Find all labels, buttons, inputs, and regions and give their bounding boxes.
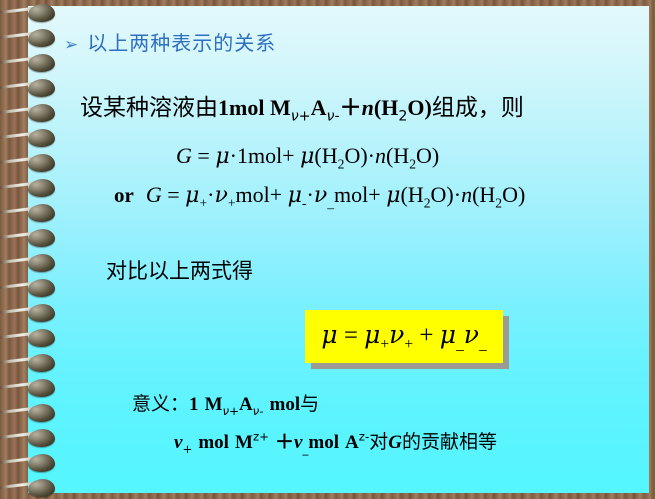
- m2-anion-charge: z-: [359, 430, 369, 444]
- hl-nu-minus: ν: [464, 320, 479, 349]
- bullet-arrow-icon: ➢: [64, 35, 79, 55]
- eq2-mu-minus: μ: [288, 183, 302, 208]
- eq2-nu-minus: ν: [314, 183, 327, 208]
- eq1-mu-water: μ: [300, 144, 314, 169]
- eq2-n: n: [461, 182, 472, 207]
- eq1-lhs: G: [176, 143, 192, 168]
- hl-nu-plus-sub: +: [404, 336, 413, 353]
- hl-mu-minus-sub: _: [456, 336, 464, 353]
- eq2-or-label: or: [114, 183, 134, 207]
- meaning-one: 1: [189, 394, 199, 415]
- sentence-prefix: 设某种溶液由: [80, 95, 218, 121]
- eq1-water2-sub: 2: [409, 156, 416, 171]
- eq1-equals: =: [197, 143, 209, 168]
- sentence-salt-a: A: [311, 95, 327, 120]
- eq1-water2-open: (H: [386, 143, 409, 168]
- m2-anion: A: [345, 432, 359, 453]
- hl-nu-plus: ν: [389, 320, 404, 349]
- eq1-dot: ·: [230, 143, 237, 168]
- eq2-mu-water: μ: [386, 183, 400, 208]
- slide-content: ➢以上两种表示的关系 设某种溶液由1mol Mν+Aν-＋n(H2O)组成，则 …: [28, 6, 649, 493]
- sentence-n: n: [362, 95, 374, 120]
- highlight-equation: μ = μ+ν+ + μ_ν_: [321, 320, 486, 354]
- page-title: ➢以上两种表示的关系: [64, 27, 276, 56]
- meaning-m-sub: ν+: [223, 404, 239, 418]
- eq2-water-sub: 2: [424, 195, 431, 210]
- sentence-salt-m-sub: ν+: [291, 109, 311, 125]
- m2-mol1: mol: [198, 432, 229, 453]
- m2-nu-plus-sub: +: [182, 442, 192, 456]
- sentence-plus: ＋: [340, 95, 362, 120]
- eq1-term1: 1mol+: [237, 143, 295, 168]
- eq1-dot2: ·: [368, 143, 375, 168]
- eq2-equals: =: [167, 182, 179, 207]
- highlight-box: μ = μ+ν+ + μ_ν_: [305, 310, 503, 363]
- meaning-line-two: ν+ mol Mz+ ＋ν_mol Az-对G的贡献相等: [174, 427, 497, 456]
- eq2-mu-plus: μ: [185, 183, 199, 208]
- m2-tail: 的贡献相等: [402, 431, 497, 453]
- eq2-mol1: mol+: [236, 182, 283, 207]
- equation-one: G = μ·1mol+ μ(H2O)·n(H2O): [176, 143, 439, 172]
- eq1-water-open: (H: [314, 143, 337, 168]
- page-title-text: 以上两种表示的关系: [87, 31, 276, 55]
- eq2-nu-plus: ν: [214, 183, 227, 208]
- sentence-water-open: (H: [374, 95, 398, 120]
- sentence-amount: 1mol: [218, 95, 264, 120]
- sentence-suffix: 组成，则: [432, 95, 524, 121]
- eq2-dot3: ·: [454, 182, 461, 207]
- meaning-m: M: [205, 394, 223, 415]
- meaning-line-one: 意义：1 Mν+Aν- mol与: [132, 389, 319, 418]
- hl-mu-minus: μ: [440, 320, 456, 349]
- m2-cation: M: [235, 432, 253, 453]
- meaning-mol: mol: [270, 394, 301, 415]
- eq1-n: n: [375, 143, 386, 168]
- eq2-water2-close: O): [502, 182, 525, 207]
- eq2-dot2: ·: [307, 182, 314, 207]
- eq2-nu-plus-sub: +: [228, 195, 236, 210]
- hl-equals: =: [344, 322, 358, 349]
- equation-two: orG = μ+·ν+mol+ μ-·ν_mol+ μ(H2O)·n(H2O): [114, 182, 525, 211]
- eq2-water2-open: (H: [472, 182, 495, 207]
- meaning-with: 与: [300, 393, 319, 415]
- hl-plus: +: [419, 322, 433, 349]
- eq2-mu-plus-sub: +: [199, 195, 207, 210]
- sentence-salt-m: M: [270, 95, 291, 120]
- meaning-a: A: [239, 394, 253, 415]
- m2-mol2: mol: [308, 432, 339, 453]
- eq1-water-close: O): [344, 143, 367, 168]
- m2-cation-charge: z+: [253, 430, 269, 444]
- eq1-mu: μ: [215, 144, 229, 169]
- m2-g: G: [388, 432, 402, 453]
- eq2-water-open: (H: [401, 182, 424, 207]
- slide-canvas: ➢以上两种表示的关系 设某种溶液由1mol Mν+Aν-＋n(H2O)组成，则 …: [0, 0, 655, 499]
- eq2-water-close: O): [431, 182, 454, 207]
- m2-plus: ＋: [275, 432, 294, 453]
- eq2-mol2: mol+: [334, 182, 381, 207]
- m2-dui: 对: [369, 431, 388, 453]
- body-sentence: 设某种溶液由1mol Mν+Aν-＋n(H2O)组成，则: [80, 88, 524, 125]
- eq1-water2-close: O): [416, 143, 439, 168]
- meaning-label: 意义：: [132, 393, 189, 415]
- hl-mu-plus-sub: +: [380, 336, 389, 353]
- eq2-lhs: G: [146, 182, 162, 207]
- sentence-salt-a-sub: ν-: [327, 109, 340, 125]
- compare-label: 对比以上两式得: [106, 255, 253, 285]
- hl-mu-plus: μ: [364, 320, 380, 349]
- hl-mu: μ: [321, 320, 337, 349]
- hl-nu-minus-sub: _: [479, 336, 487, 353]
- meaning-a-sub: ν-: [253, 404, 264, 418]
- sentence-water-close: O): [407, 95, 431, 120]
- slide-page: ➢以上两种表示的关系 设某种溶液由1mol Mν+Aν-＋n(H2O)组成，则 …: [28, 6, 649, 493]
